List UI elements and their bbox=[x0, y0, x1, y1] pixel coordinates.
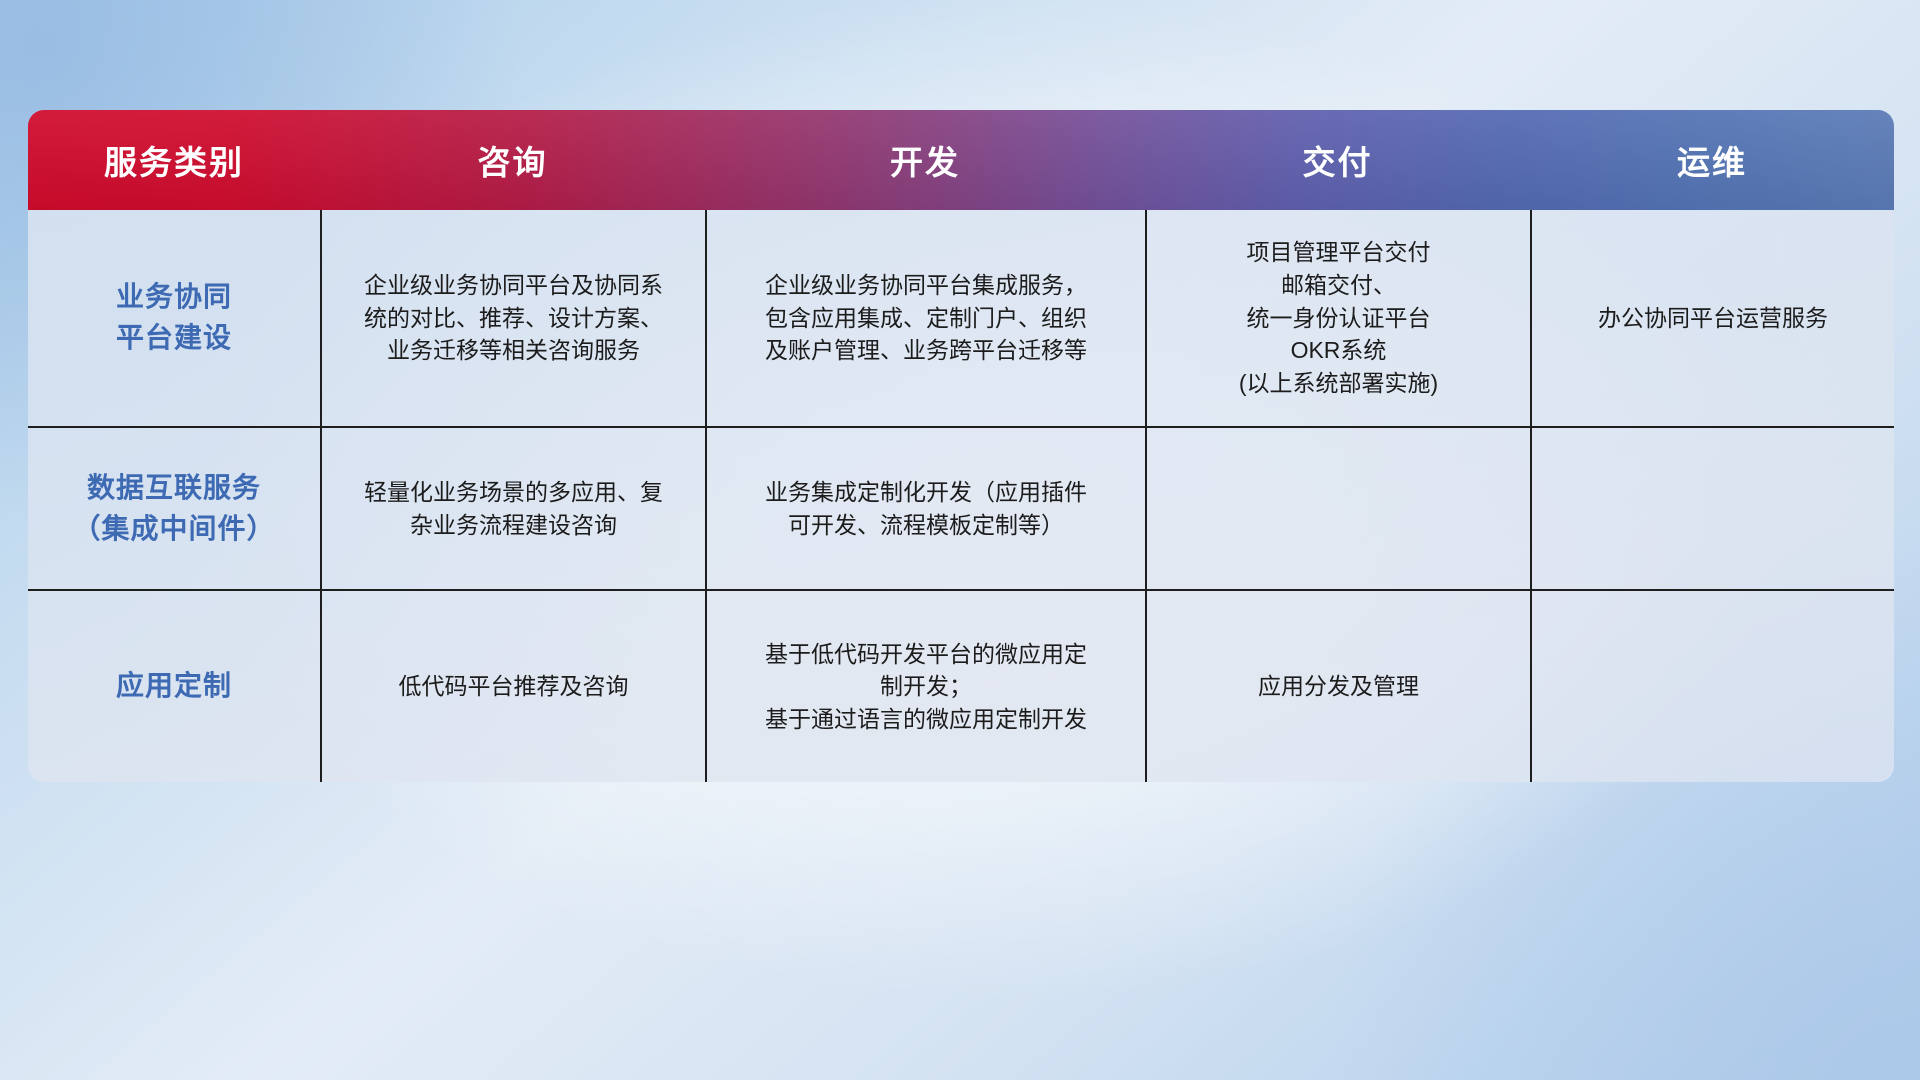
cell-delivery: 应用分发及管理 bbox=[1145, 591, 1530, 782]
column-header-service-category: 服务类别 bbox=[28, 110, 320, 210]
cell-development: 基于低代码开发平台的微应用定 制开发； 基于通过语言的微应用定制开发 bbox=[705, 591, 1145, 782]
cell-delivery: 项目管理平台交付 邮箱交付、 统一身份认证平台 OKR系统 (以上系统部署实施) bbox=[1145, 210, 1530, 426]
row-category-label: 业务协同 平台建设 bbox=[28, 210, 320, 426]
row-category-label: 应用定制 bbox=[28, 591, 320, 782]
column-header-delivery: 交付 bbox=[1145, 110, 1530, 210]
cell-development: 业务集成定制化开发（应用插件 可开发、流程模板定制等） bbox=[705, 428, 1145, 589]
cell-operations bbox=[1530, 591, 1894, 782]
cell-consulting: 企业级业务协同平台及协同系 统的对比、推荐、设计方案、 业务迁移等相关咨询服务 bbox=[320, 210, 705, 426]
row-category-label: 数据互联服务 （集成中间件） bbox=[28, 428, 320, 589]
table-row: 应用定制 低代码平台推荐及咨询 基于低代码开发平台的微应用定 制开发； 基于通过… bbox=[28, 591, 1894, 782]
table-header-row: 服务类别 咨询 开发 交付 运维 bbox=[28, 110, 1894, 210]
cell-consulting: 轻量化业务场景的多应用、复 杂业务流程建设咨询 bbox=[320, 428, 705, 589]
cell-delivery bbox=[1145, 428, 1530, 589]
cell-operations bbox=[1530, 428, 1894, 589]
service-matrix-table: 服务类别 咨询 开发 交付 运维 业务协同 平台建设 企业级业务协同平台及协同系… bbox=[28, 110, 1894, 782]
column-header-development: 开发 bbox=[705, 110, 1145, 210]
table-row: 数据互联服务 （集成中间件） 轻量化业务场景的多应用、复 杂业务流程建设咨询 业… bbox=[28, 428, 1894, 591]
cell-development: 企业级业务协同平台集成服务， 包含应用集成、定制门户、组织 及账户管理、业务跨平… bbox=[705, 210, 1145, 426]
column-header-consulting: 咨询 bbox=[320, 110, 705, 210]
cell-consulting: 低代码平台推荐及咨询 bbox=[320, 591, 705, 782]
table-row: 业务协同 平台建设 企业级业务协同平台及协同系 统的对比、推荐、设计方案、 业务… bbox=[28, 210, 1894, 428]
cell-operations: 办公协同平台运营服务 bbox=[1530, 210, 1894, 426]
column-header-operations: 运维 bbox=[1530, 110, 1894, 210]
table-body: 业务协同 平台建设 企业级业务协同平台及协同系 统的对比、推荐、设计方案、 业务… bbox=[28, 210, 1894, 782]
